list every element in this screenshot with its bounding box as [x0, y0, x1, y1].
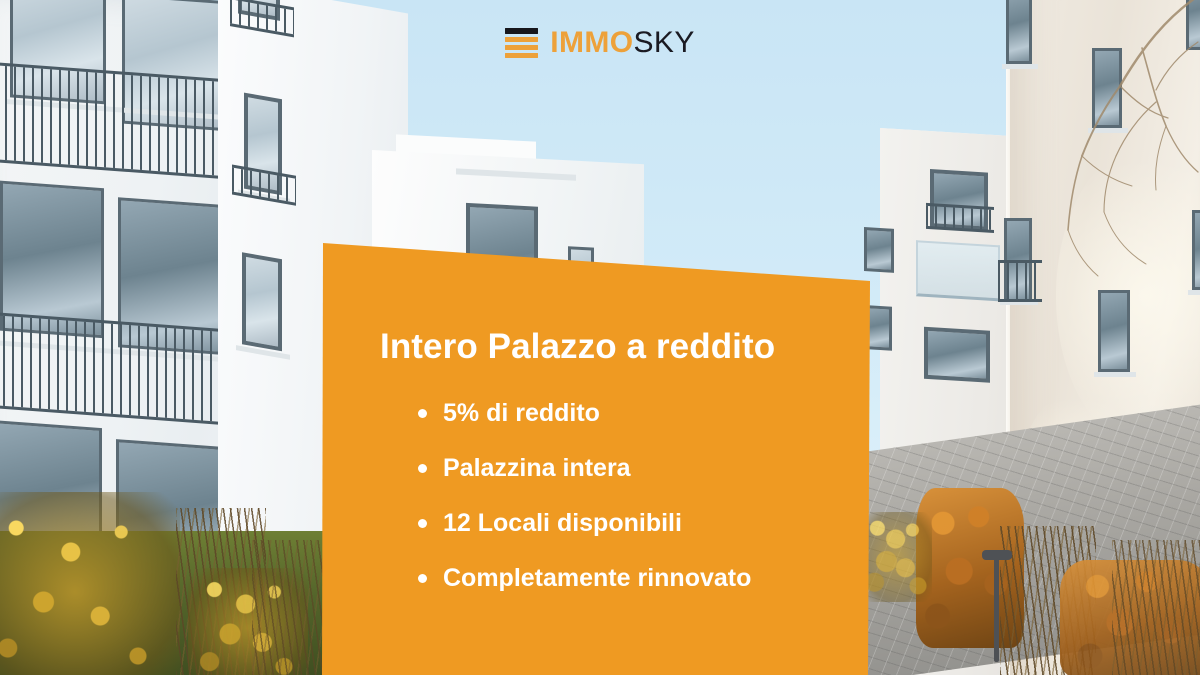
- offer-feature-label: 5% di reddito: [443, 401, 600, 426]
- brand-wordmark: IMMOSKY: [550, 28, 695, 58]
- promo-banner: IMMOSKY Intero Palazzo a reddito 5% di r…: [0, 0, 1200, 675]
- bullet-icon: [418, 519, 427, 528]
- offer-feature-label: Completamente rinnovato: [443, 566, 751, 591]
- list-item: 5% di reddito: [380, 401, 878, 426]
- brand-name-immo: IMMO: [550, 26, 633, 59]
- offer-feature-list: 5% di reddito Palazzina intera 12 Locali…: [380, 401, 878, 591]
- list-item: Palazzina intera: [380, 456, 878, 481]
- offer-feature-label: Palazzina intera: [443, 456, 631, 481]
- lamp-head: [982, 550, 1012, 560]
- offer-title: Intero Palazzo a reddito: [380, 328, 878, 367]
- hedge-twigs-right-2: [1112, 540, 1200, 675]
- offer-feature-label: 12 Locali disponibili: [443, 511, 682, 536]
- lamp-post: [994, 556, 999, 662]
- offer-panel-content: Intero Palazzo a reddito 5% di reddito P…: [322, 236, 878, 675]
- brand-logo[interactable]: IMMOSKY: [0, 28, 1200, 58]
- list-item: 12 Locali disponibili: [380, 511, 878, 536]
- list-item: Completamente rinnovato: [380, 566, 878, 591]
- bullet-icon: [418, 464, 427, 473]
- bullet-icon: [418, 409, 427, 418]
- brand-name-sky: SKY: [634, 26, 695, 59]
- bullet-icon: [418, 574, 427, 583]
- immosky-bars-logo: [505, 28, 538, 58]
- shrub-yellow-left: [0, 492, 180, 675]
